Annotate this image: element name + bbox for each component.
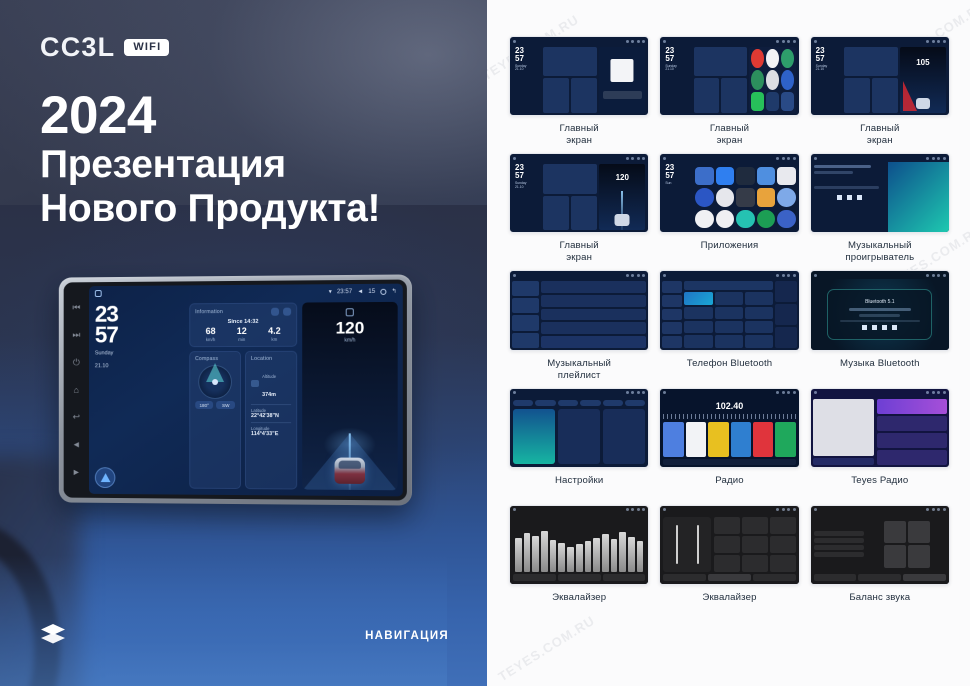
thumb-status-bar <box>510 506 648 514</box>
compass-direction: SW <box>216 401 235 409</box>
back-icon[interactable]: ↩ <box>71 412 82 423</box>
list-item <box>541 309 646 321</box>
prev-icon[interactable]: ⏮ <box>71 302 82 313</box>
stop-icon <box>882 325 887 330</box>
status-icons <box>776 157 796 160</box>
mini-widgets <box>694 47 748 113</box>
screen-caption: Главный экран <box>860 123 899 147</box>
eq2-sliders[interactable] <box>663 517 711 572</box>
screen-caption: Телефон Bluetooth <box>687 358 773 382</box>
home-icon <box>814 274 817 277</box>
app-icon <box>751 49 764 68</box>
thumb-status-bar <box>660 506 798 514</box>
volume-up-icon[interactable]: ► <box>71 467 82 478</box>
gallery-item[interactable]: 2357Sunday21.10 120 <box>509 153 649 264</box>
preset-button <box>770 555 796 572</box>
clock-icon <box>631 391 634 394</box>
mini-widgets <box>844 47 898 113</box>
thumb-body: 2357Sunday21.10 105 <box>811 45 949 115</box>
speaker-front-right <box>908 521 930 543</box>
sidebar-item <box>512 298 539 313</box>
status-icons <box>626 274 646 277</box>
status-icons <box>926 391 946 394</box>
clock-icon <box>932 40 935 43</box>
car-graphic <box>916 98 930 109</box>
back-icon <box>793 274 796 277</box>
mini-compass-card <box>844 78 870 113</box>
layers-icon <box>40 623 66 650</box>
mini-info-card <box>844 47 898 76</box>
drive-speed: 120 <box>599 173 645 182</box>
driving-view-card[interactable]: 120 km/h <box>302 302 397 490</box>
home-icon <box>814 508 817 511</box>
preset-button <box>714 536 740 553</box>
head-unit-device: ⏮ ⏭ ⏻ ⌂ ↩ ◄ ► ▾ 23:57 ◄ 15 <box>59 274 412 505</box>
clock-weekday: Sunday <box>95 350 184 358</box>
clock-icon <box>631 274 634 277</box>
compass-card[interactable]: Compass 180° SW <box>189 351 241 489</box>
mini-clock: 2357Sunday21.10 <box>814 47 842 113</box>
thumb-body <box>660 514 798 584</box>
gallery-item[interactable]: Bluetooth 5.1 Музыка Bluetooth <box>810 270 950 381</box>
location-card[interactable]: Location Altitude 374m <box>245 351 297 490</box>
app-icon <box>751 92 764 111</box>
bt-controls[interactable] <box>862 325 897 330</box>
screen-thumbnail-player[interactable] <box>810 153 950 233</box>
thumb-status-bar <box>660 389 798 397</box>
gallery-item[interactable]: Баланс звука <box>810 505 950 616</box>
screen-thumbnail-teyes-radio[interactable] <box>810 388 950 468</box>
track-artist-line <box>859 314 900 317</box>
gallery-item[interactable]: 2357Sunday21.10 Главный экран <box>509 36 649 147</box>
eq-tabs[interactable] <box>814 574 946 581</box>
dialer-main <box>684 281 773 347</box>
clock-icon <box>631 508 634 511</box>
back-icon[interactable]: ↰ <box>392 288 397 295</box>
thumb-status-bar <box>510 271 648 279</box>
favorite-icon <box>775 281 796 302</box>
tab-eq <box>513 574 556 581</box>
mini-compass-card <box>543 78 569 113</box>
app-icon <box>781 49 794 68</box>
status-icons <box>626 391 646 394</box>
dial-key <box>715 335 743 347</box>
tab-eq <box>814 574 857 581</box>
mini-teyes-layout <box>811 397 949 467</box>
home-icon[interactable] <box>95 290 102 297</box>
speaker-front-left <box>884 521 906 543</box>
bt-now-playing-card: Bluetooth 5.1 <box>827 289 932 341</box>
status-icons <box>776 40 796 43</box>
lower-widgets-row: Compass 180° SW <box>189 351 297 490</box>
thumb-body <box>510 514 648 584</box>
preset-station <box>686 422 706 457</box>
screen-thumbnail-bt-music[interactable]: Bluetooth 5.1 <box>810 270 950 350</box>
altitude-row: Altitude 374m <box>251 365 291 401</box>
radio-presets[interactable] <box>663 422 795 457</box>
app-icon <box>751 70 764 89</box>
stat-value: 68 <box>206 327 216 336</box>
wifi-icon <box>926 274 929 277</box>
option-row <box>814 545 864 550</box>
mini-apps-layout: 2357Sun <box>660 162 798 232</box>
sidebar-item-dialpad <box>662 281 682 293</box>
tab-display <box>558 400 578 406</box>
dial-key <box>715 321 743 333</box>
volume-icon: ◄ <box>357 288 363 294</box>
mini-info-card <box>543 47 597 76</box>
dialer-actions[interactable] <box>775 281 796 347</box>
preset-button <box>742 536 768 553</box>
gallery-item[interactable]: 2357Sun Приложения <box>659 153 799 264</box>
lane-warning-icon <box>903 81 917 111</box>
stat-unit: km <box>268 337 281 342</box>
thumb-body: 102.40 <box>660 397 798 467</box>
mini-radio-layout: 102.40 <box>660 397 798 467</box>
mini-location-card <box>571 196 597 231</box>
back-icon <box>793 508 796 511</box>
screen-thumbnail-home-drive[interactable]: 2357Sunday21.10 120 <box>509 153 649 233</box>
back-icon <box>642 274 645 277</box>
dial-key <box>745 307 773 319</box>
player-visualizer <box>888 162 949 232</box>
headline-line-1: Презентация <box>40 143 380 187</box>
mini-info-card <box>694 47 748 76</box>
information-card-actions[interactable] <box>271 308 291 316</box>
progress-bar <box>814 186 880 189</box>
eq2-main <box>663 517 795 572</box>
gallery-item[interactable]: Teyes Радио <box>810 388 950 499</box>
home-icon <box>513 40 516 43</box>
screens-grid: 2357Sunday21.10 Главный экран <box>509 36 950 616</box>
sidebar-item-recent <box>662 322 682 334</box>
preset-button <box>714 555 740 572</box>
gallery-item[interactable]: 2357Sunday21.10 105 <box>810 36 950 147</box>
thumb-body: 2357Sunday21.10 <box>660 45 798 115</box>
back-icon <box>793 40 796 43</box>
sidebar-item <box>512 333 539 348</box>
screen-thumbnail-home-media[interactable]: 2357Sunday21.10 <box>509 36 649 116</box>
back-icon <box>642 40 645 43</box>
mini-clock: 2357Sun <box>663 164 692 230</box>
screen-thumbnail-home-adas[interactable]: 2357Sunday21.10 105 <box>810 36 950 116</box>
playlist-sidebar[interactable] <box>512 281 539 347</box>
next-icon[interactable]: ⏭ <box>71 330 82 341</box>
option-row <box>814 552 864 557</box>
brand-lockup: CC3L WIFI <box>40 32 169 63</box>
mini-sub-cards <box>844 78 898 113</box>
preset-station <box>775 422 795 457</box>
sidebar-item-settings <box>662 336 682 348</box>
power-icon[interactable]: ⏻ <box>71 357 82 368</box>
status-icons <box>926 40 946 43</box>
status-icons <box>626 508 646 511</box>
thumb-body: 2357Sunday21.10 <box>510 45 648 115</box>
wifi-icon <box>626 274 629 277</box>
stat-value: 4.2 <box>268 327 281 336</box>
stat-unit: min <box>237 337 247 342</box>
home-icon <box>814 40 817 43</box>
dial-key <box>684 307 712 319</box>
wifi-icon <box>776 391 779 394</box>
home-icon <box>663 508 666 511</box>
preset-station <box>708 422 728 457</box>
gallery-item[interactable]: Телефон Bluetooth <box>659 270 799 381</box>
thumb-status-bar <box>811 37 949 45</box>
balance-options[interactable] <box>814 517 864 572</box>
screen-thumbnail-equalizer-presets[interactable] <box>659 505 799 585</box>
divider <box>251 404 291 405</box>
volume-down-icon[interactable]: ◄ <box>71 439 82 450</box>
speaker-quadrants[interactable] <box>884 521 931 568</box>
wifi-icon <box>626 508 629 511</box>
playlist-rows[interactable] <box>541 281 646 347</box>
altitude-value: 374m <box>262 392 276 398</box>
list-item <box>541 322 646 334</box>
apps-grid[interactable] <box>695 164 795 230</box>
mini-compass-card <box>694 78 720 113</box>
clock-icon <box>631 157 634 160</box>
watermark: TEYES.COM.RU <box>495 613 597 685</box>
home-icon <box>663 274 666 277</box>
gallery-item[interactable]: 102.40 <box>659 388 799 499</box>
player-controls <box>814 195 885 200</box>
mini-home-layout: 2357Sunday21.10 <box>660 45 798 115</box>
back-icon <box>793 157 796 160</box>
gallery-item[interactable]: Эквалайзер <box>659 505 799 616</box>
mini-clock: 2357Sunday21.10 <box>663 47 691 113</box>
progress-bar <box>840 320 920 322</box>
volume-icon <box>787 391 790 394</box>
mini-widgets <box>543 47 597 113</box>
mini-widgets <box>543 164 597 230</box>
bt-version-label: Bluetooth 5.1 <box>865 299 894 305</box>
tab-about <box>625 400 645 406</box>
track-title-line <box>814 165 871 168</box>
volume-icon <box>637 40 640 43</box>
previous-icon <box>862 325 867 330</box>
gallery-item[interactable]: Музыкальный проигрыватель <box>810 153 950 264</box>
thumb-body <box>811 162 949 232</box>
screen-thumbnail-apps[interactable]: 2357Sun <box>659 153 799 233</box>
back-icon <box>793 391 796 394</box>
thumb-body <box>510 279 648 349</box>
sidebar-item-search <box>662 309 682 321</box>
mini-eq2-layout <box>660 514 798 584</box>
gallery-item[interactable]: 2357Sunday21.10 <box>659 36 799 147</box>
screen-thumbnail-dialer[interactable] <box>659 270 799 350</box>
dash-ambient-glow <box>0 555 447 686</box>
mini-drive-card: 120 <box>599 164 645 230</box>
thumb-status-bar <box>811 506 949 514</box>
screen-caption: Музыкальный проигрыватель <box>845 240 914 264</box>
screen-thumbnail-balance[interactable] <box>810 505 950 585</box>
eq-tabs[interactable] <box>663 574 795 581</box>
back-icon <box>642 391 645 394</box>
screen-thumbnail-playlist[interactable] <box>509 270 649 350</box>
information-title: Information <box>195 309 223 315</box>
wifi-icon <box>626 40 629 43</box>
latitude-value: 22°42'38"N <box>251 413 291 419</box>
status-time: 23:57 <box>337 289 352 295</box>
mini-adas-card: 105 <box>900 47 946 113</box>
back-icon <box>943 391 946 394</box>
more-card <box>603 409 645 464</box>
mini-balance-layout <box>811 514 949 584</box>
information-stats: 68 km/h 12 min 4.2 km <box>195 327 291 342</box>
mini-sub-cards <box>543 196 597 231</box>
teyes-station-list[interactable] <box>877 399 947 465</box>
dial-key <box>715 292 743 304</box>
navigation-fab-button[interactable] <box>95 467 116 488</box>
dial-key <box>684 321 712 333</box>
thumb-body: 2357Sun <box>660 162 798 232</box>
teyes-controls[interactable] <box>813 458 875 465</box>
device-side-buttons[interactable]: ⏮ ⏭ ⏻ ⌂ ↩ ◄ ► <box>64 286 89 494</box>
app-icon <box>695 188 713 206</box>
home-icon <box>513 274 516 277</box>
radio-tuning-scale[interactable] <box>663 414 795 419</box>
album-art <box>813 399 875 456</box>
balance-pad[interactable] <box>868 517 946 572</box>
volume-icon <box>937 391 940 394</box>
stat-item: 4.2 km <box>268 327 281 342</box>
clock-icon <box>782 391 785 394</box>
information-card[interactable]: Information Since 14:32 68 <box>189 303 297 348</box>
screen-caption: Музыкальный плейлист <box>547 358 611 382</box>
play-pause-icon <box>872 325 877 330</box>
settings-tabs[interactable] <box>513 400 645 406</box>
screenshot-icon[interactable] <box>380 288 386 294</box>
preset-button <box>742 555 768 572</box>
screen-thumbnail-home-apps[interactable]: 2357Sunday21.10 <box>659 36 799 116</box>
tab-fader <box>708 574 751 581</box>
mini-playlist-layout <box>510 279 648 349</box>
head-unit-bezel: ⏮ ⏭ ⏻ ⌂ ↩ ◄ ► ▾ 23:57 ◄ 15 <box>64 280 407 501</box>
screen-caption: Teyes Радио <box>851 475 908 499</box>
home-icon <box>663 391 666 394</box>
altitude-label: Altitude <box>262 374 276 379</box>
wifi-icon <box>776 40 779 43</box>
status-icons <box>776 274 796 277</box>
dialpad[interactable] <box>684 292 773 347</box>
teyes-now-playing <box>813 399 875 465</box>
screen-caption: Настройки <box>555 475 603 499</box>
headline-year: 2024 <box>40 88 380 143</box>
next-icon <box>857 195 862 200</box>
app-icon <box>736 188 754 206</box>
list-item <box>877 433 947 448</box>
wifi-icon: ▾ <box>329 288 332 295</box>
dial-key <box>715 307 743 319</box>
mini-info-card <box>543 164 597 193</box>
thumb-status-bar <box>510 154 648 162</box>
track-artist-line <box>814 171 853 174</box>
app-icon <box>777 167 795 185</box>
refresh-icon[interactable] <box>271 308 279 316</box>
settings-cards[interactable] <box>513 409 645 464</box>
expand-icon[interactable] <box>283 308 291 316</box>
preset-button <box>714 517 740 534</box>
eq-tabs[interactable] <box>513 574 645 581</box>
thumb-status-bar <box>811 271 949 279</box>
tab-system <box>603 400 623 406</box>
track-title-line <box>849 308 911 311</box>
eq-band-sliders[interactable] <box>513 517 645 574</box>
wifi-icon <box>926 391 929 394</box>
compass-dial <box>198 365 232 399</box>
tab-wifi <box>513 400 533 406</box>
compass-title: Compass <box>195 356 235 362</box>
gallery-item[interactable]: Эквалайзер <box>509 505 649 616</box>
wifi-icon <box>626 157 629 160</box>
eq2-preset-buttons[interactable] <box>714 517 796 572</box>
wifi-icon <box>926 40 929 43</box>
thumb-status-bar <box>660 154 798 162</box>
clock-widget: 23 57 Sunday 21.10 <box>95 303 184 488</box>
volume-icon <box>937 40 940 43</box>
status-icons <box>926 157 946 160</box>
phone-number-field[interactable] <box>684 281 773 290</box>
volume-icon <box>787 157 790 160</box>
dial-key <box>684 292 712 304</box>
thumb-status-bar <box>811 389 949 397</box>
screen-caption: Эквалайзер <box>702 592 756 616</box>
clock-icon <box>782 40 785 43</box>
brand-wifi-badge: WIFI <box>124 39 169 56</box>
mini-home-layout: 2357Sunday21.10 105 <box>811 45 949 115</box>
tab-fader <box>858 574 901 581</box>
car-graphic <box>615 214 630 226</box>
app-icon <box>716 167 734 185</box>
screen-thumbnail-radio[interactable]: 102.40 <box>659 388 799 468</box>
speed-value: 120 <box>335 319 364 336</box>
home-icon[interactable]: ⌂ <box>71 385 82 396</box>
head-unit-screen[interactable]: ▾ 23:57 ◄ 15 ↰ 23 57 Sunday <box>89 284 403 497</box>
back-icon <box>642 508 645 511</box>
app-icon <box>695 210 713 228</box>
preset-button <box>770 517 796 534</box>
car-graphic <box>335 458 365 484</box>
dialer-sidebar[interactable] <box>662 281 682 347</box>
screen-caption: Главный экран <box>710 123 749 147</box>
divider <box>251 422 291 423</box>
carplay-card <box>558 409 600 464</box>
mini-player-layout <box>811 162 949 232</box>
screen-thumbnail-settings[interactable] <box>509 388 649 468</box>
radio-toolbar[interactable] <box>663 459 795 465</box>
widgets-column: Information Since 14:32 68 <box>189 303 297 490</box>
gallery-item[interactable]: Настройки <box>509 388 649 499</box>
mini-sub-cards <box>694 78 748 113</box>
status-icons <box>626 157 646 160</box>
compass-values: 180° SW <box>195 401 235 409</box>
home-icon <box>513 157 516 160</box>
clock-minutes: 57 <box>95 324 184 345</box>
next-icon <box>892 325 897 330</box>
volume-icon <box>637 391 640 394</box>
clock-date: 21.10 <box>95 363 184 371</box>
volume-icon <box>637 274 640 277</box>
volume-icon <box>787 508 790 511</box>
gallery-item[interactable]: Музыкальный плейлист <box>509 270 649 381</box>
information-card-header: Information <box>195 308 291 317</box>
screen-caption: Эквалайзер <box>552 592 606 616</box>
screen-thumbnail-equalizer-bars[interactable] <box>509 505 649 585</box>
play-pause-icon <box>847 195 852 200</box>
sidebar-item <box>512 281 539 296</box>
app-icon <box>757 210 775 228</box>
